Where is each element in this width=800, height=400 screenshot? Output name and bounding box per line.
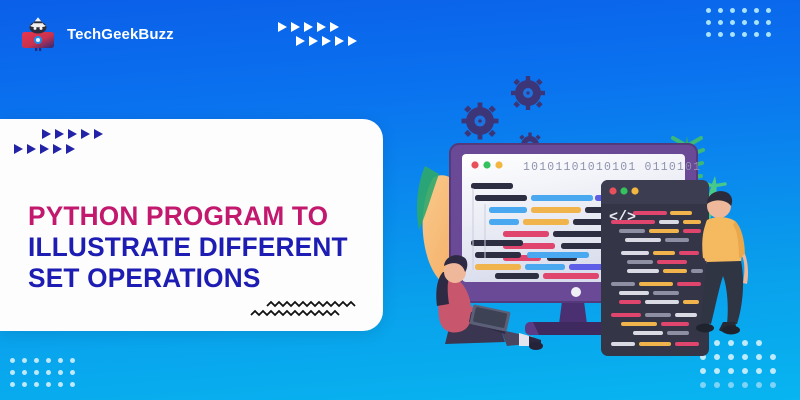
brand-name: TechGeekBuzz: [67, 26, 174, 43]
arrow-icon: [55, 129, 64, 139]
zigzag-squiggle: [249, 297, 367, 323]
arrow-icon: [81, 129, 90, 139]
brand-logo[interactable]: TechGeekBuzz: [18, 14, 174, 54]
arrow-icon: [330, 22, 339, 32]
arrow-icon: [14, 144, 23, 154]
arrow-icon: [68, 129, 77, 139]
arrow-icon: [94, 129, 103, 139]
page-title-line-2: Illustrate Different: [28, 232, 365, 263]
title-card: Python Program to Illustrate Different S…: [0, 119, 383, 331]
arrow-icon: [291, 22, 300, 32]
dot-grid-bottom-left: [10, 358, 82, 394]
arrow-icon: [317, 22, 326, 32]
code-editor-panel: </>: [601, 180, 709, 356]
arrow-icon: [53, 144, 62, 154]
arrow-icon: [309, 36, 318, 46]
arrow-icon: [42, 129, 51, 139]
window-dot-red: [471, 161, 478, 168]
window-dot-green: [483, 161, 490, 168]
techgeekbuzz-mascot-icon: [18, 14, 58, 54]
arrow-cluster-top: [278, 22, 357, 46]
arrow-icon: [296, 36, 305, 46]
window-dot-yellow: [495, 161, 502, 168]
page-title-line-1: Python Program to: [28, 201, 365, 232]
arrow-icon: [66, 144, 75, 154]
page-title-line-3: Set Operations: [28, 263, 365, 294]
arrow-icon: [348, 36, 357, 46]
arrow-icon: [335, 36, 344, 46]
arrow-icon: [278, 22, 287, 32]
dot-grid-top-right: [706, 8, 778, 44]
arrow-cluster-card: [14, 129, 103, 154]
page-title: Python Program to Illustrate Different S…: [28, 201, 368, 294]
window-dot-green: [620, 187, 627, 194]
arrow-icon: [304, 22, 313, 32]
arrow-icon: [40, 144, 49, 154]
window-dot-yellow: [631, 187, 638, 194]
monitor-binary-text: 10101101010101 0110101: [523, 161, 701, 174]
arrow-icon: [27, 144, 36, 154]
arrow-icon: [322, 36, 331, 46]
window-dot-red: [609, 187, 616, 194]
coding-workspace-illustration: 10101101010101 0110101: [415, 58, 800, 368]
